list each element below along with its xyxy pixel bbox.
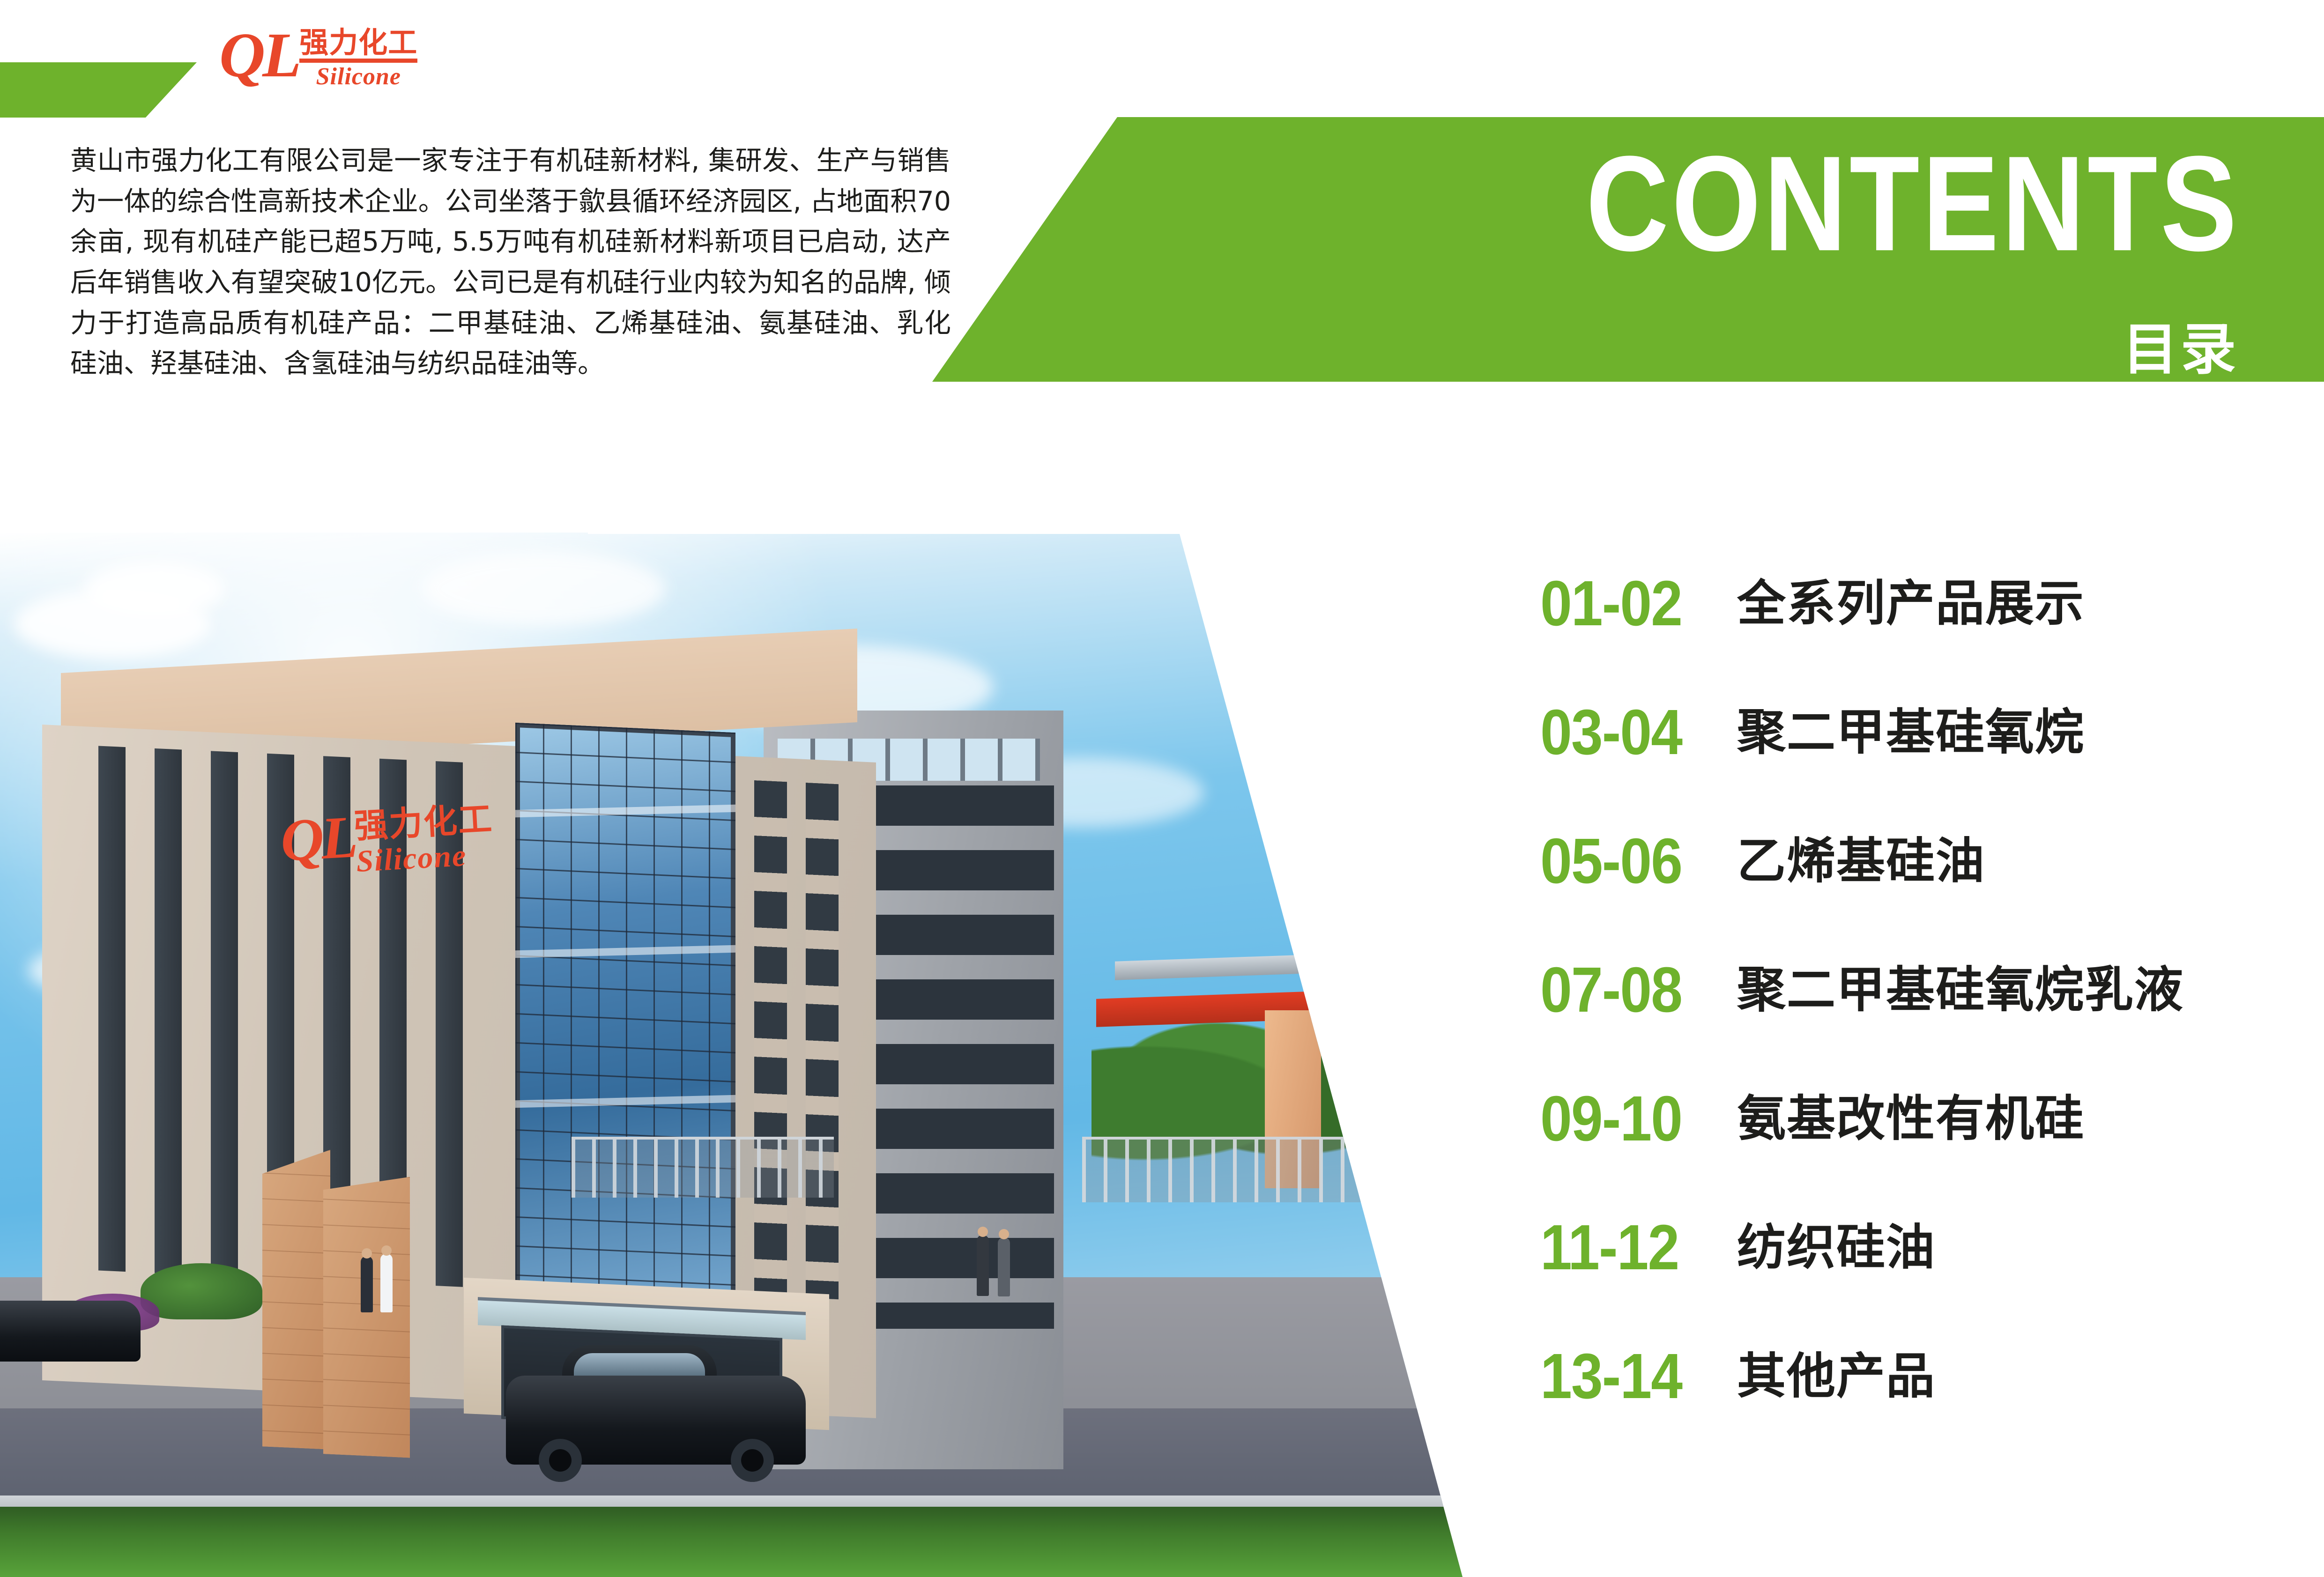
company-logo: QL 强力化工 Silicone xyxy=(219,28,416,103)
toc-page-range: 03-04 xyxy=(1540,700,1737,764)
table-of-contents: 01-02 全系列产品展示 03-04 聚二甲基硅氧烷 05-06 乙烯基硅油 … xyxy=(1540,564,2299,1414)
building-rooftop-sign: QL 强力化工 Silicone xyxy=(279,802,496,884)
toc-entry[interactable]: 11-12 纺织硅油 xyxy=(1540,1208,2299,1286)
toc-entry-label: 乙烯基硅油 xyxy=(1737,837,1985,885)
stone-pier xyxy=(323,1173,410,1458)
car-wheel xyxy=(539,1439,582,1482)
pedestrian xyxy=(380,1254,393,1312)
window-column xyxy=(806,783,839,1299)
cloud-icon xyxy=(84,561,225,617)
toc-entry[interactable]: 09-10 氨基改性有机硅 xyxy=(1540,1080,2299,1157)
toc-page-range: 05-06 xyxy=(1540,829,1737,893)
toc-page-range: 01-02 xyxy=(1540,571,1737,635)
toc-page-range: 11-12 xyxy=(1540,1215,1737,1279)
sign-mark-ql: QL xyxy=(279,809,356,868)
toc-page-range: 09-10 xyxy=(1540,1086,1737,1150)
retractable-gate xyxy=(1082,1137,1401,1202)
toc-entry[interactable]: 13-14 其他产品 xyxy=(1540,1337,2299,1414)
perimeter-fence xyxy=(572,1137,834,1198)
toc-entry[interactable]: 03-04 聚二甲基硅氧烷 xyxy=(1540,693,2299,770)
logo-name-en: Silicone xyxy=(299,65,417,89)
stone-pier xyxy=(262,1147,330,1450)
logo-name-cn: 强力化工 xyxy=(299,28,417,63)
toc-entry-label: 聚二甲基硅氧烷 xyxy=(1737,708,2085,756)
toc-entry-label: 全系列产品展示 xyxy=(1737,579,2085,628)
toc-entry-label: 氨基改性有机硅 xyxy=(1737,1094,2085,1143)
toc-entry-label: 纺织硅油 xyxy=(1737,1223,1936,1272)
main-office-building: QL 强力化工 Silicone xyxy=(28,673,932,1441)
top-left-accent-bar xyxy=(0,62,197,118)
parked-car xyxy=(0,1301,141,1362)
window-column xyxy=(754,780,787,1297)
toc-entry[interactable]: 01-02 全系列产品展示 xyxy=(1540,564,2299,642)
toc-entry-label: 聚二甲基硅氧烷乳液 xyxy=(1737,965,2184,1014)
pedestrian xyxy=(977,1235,989,1296)
facade-fin xyxy=(211,751,238,1277)
company-building-photo: QL 强力化工 Silicone xyxy=(0,533,1464,1577)
toc-page-range: 13-14 xyxy=(1540,1344,1737,1408)
lawn xyxy=(0,1507,1464,1577)
cloud-icon xyxy=(422,551,665,626)
curtain-wall-glass xyxy=(515,723,735,1337)
contents-banner: CONTENTS 目录 xyxy=(932,117,2324,382)
toc-page-range: 07-08 xyxy=(1540,957,1737,1022)
pedestrian xyxy=(998,1237,1010,1296)
contents-title-en: CONTENTS xyxy=(1586,136,2240,271)
toc-entry[interactable]: 07-08 聚二甲基硅氧烷乳液 xyxy=(1540,951,2299,1028)
facade-fin xyxy=(98,746,126,1272)
company-intro-paragraph: 黄山市强力化工有限公司是一家专注于有机硅新材料, 集研发、生产与销售为一体的综合… xyxy=(70,141,951,384)
facade-fin xyxy=(155,748,182,1274)
car-wheel xyxy=(731,1439,774,1482)
toc-entry-label: 其他产品 xyxy=(1737,1352,1936,1400)
logo-mark-ql: QL xyxy=(219,25,298,86)
toc-entry[interactable]: 05-06 乙烯基硅油 xyxy=(1540,822,2299,899)
sign-name-cn: 强力化工 xyxy=(353,802,494,843)
contents-title-cn: 目录 xyxy=(2123,322,2239,377)
pedestrian xyxy=(361,1256,373,1312)
